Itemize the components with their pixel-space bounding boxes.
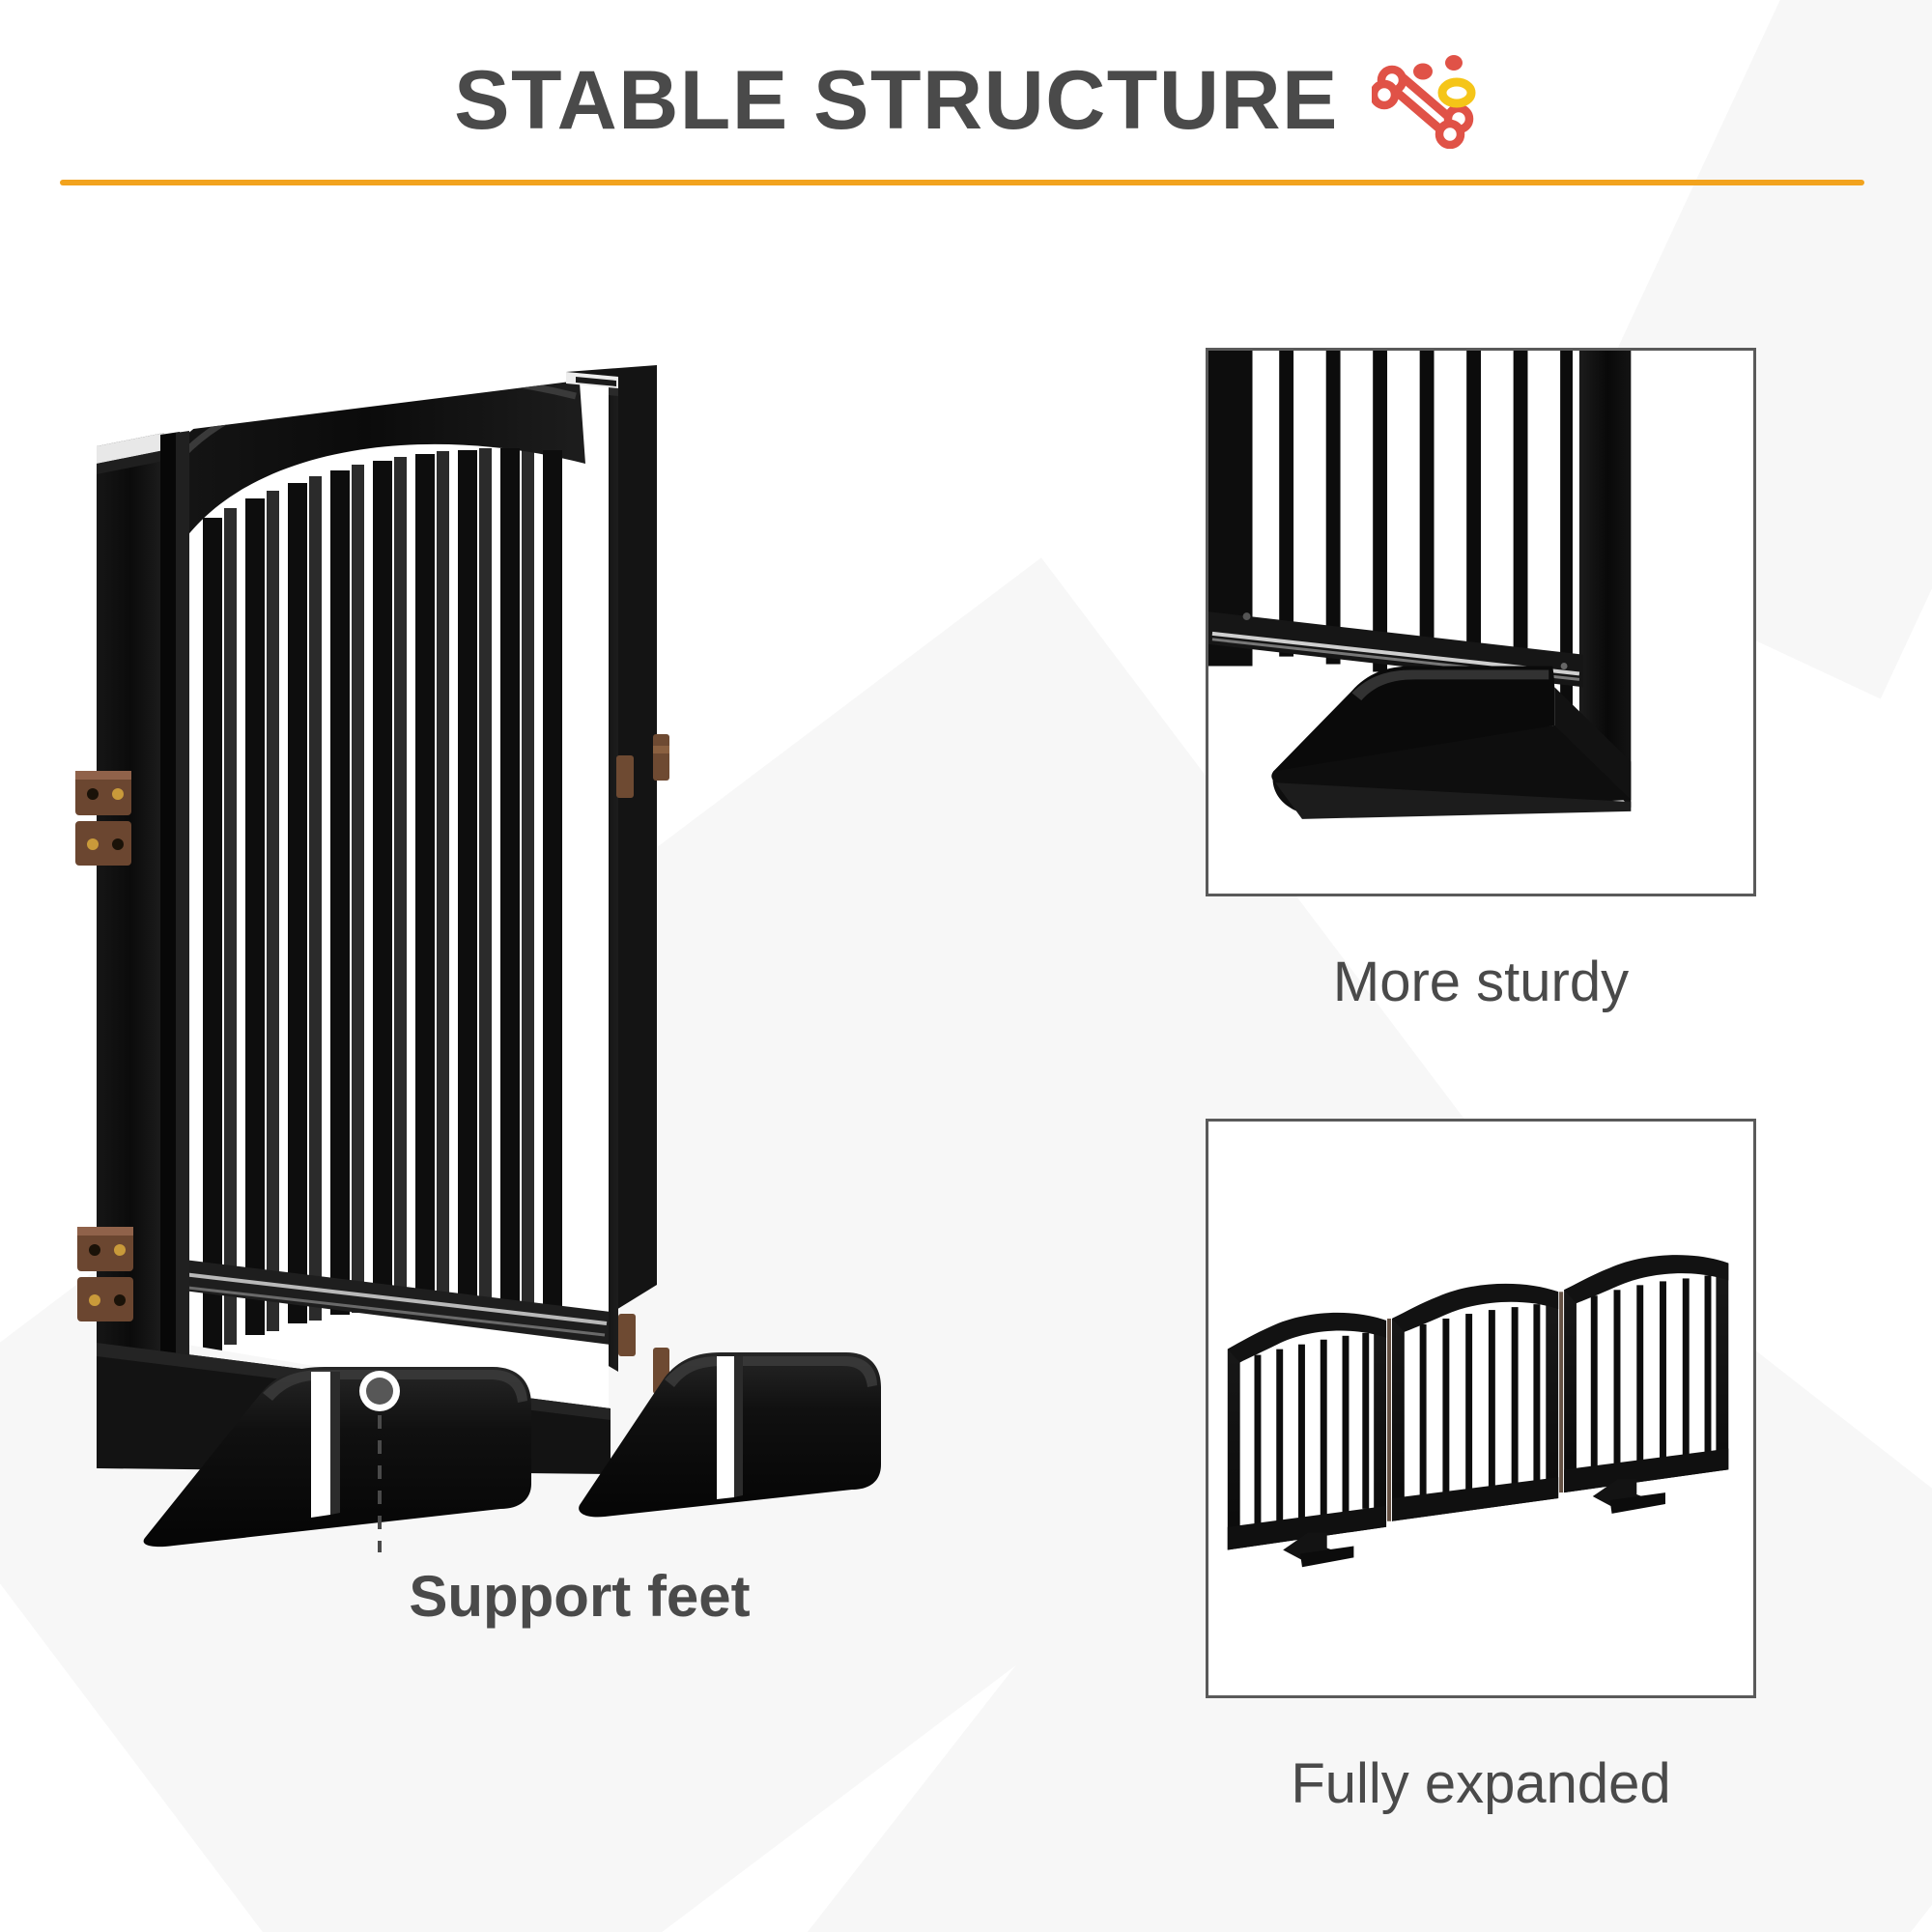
title-divider (60, 180, 1864, 185)
dog-bone-icon (1372, 52, 1478, 149)
hinge-tab-icon (616, 755, 634, 798)
support-feet-callout: Support feet (241, 1348, 918, 1657)
infographic-canvas: STABLE STRUCTURE (0, 0, 1932, 1932)
page-title: STABLE STRUCTURE (454, 59, 1339, 142)
gate-leaf-2 (1392, 1284, 1558, 1521)
panel-more-sturdy (1206, 348, 1756, 896)
title-row: STABLE STRUCTURE (0, 52, 1932, 149)
header: STABLE STRUCTURE (0, 0, 1932, 193)
caption-more-sturdy: More sturdy (1143, 954, 1819, 1010)
callout-marker-dot (366, 1378, 393, 1405)
gate-leaf-1 (1228, 1313, 1386, 1567)
hinge-seam-icon (1559, 1292, 1563, 1492)
gate-panel-group (75, 357, 669, 1474)
hinge-seam-icon (1387, 1319, 1391, 1521)
panel-fully-expanded (1206, 1119, 1756, 1698)
caption-fully-expanded: Fully expanded (1143, 1756, 1819, 1812)
support-feet-label: Support feet (241, 1568, 918, 1626)
